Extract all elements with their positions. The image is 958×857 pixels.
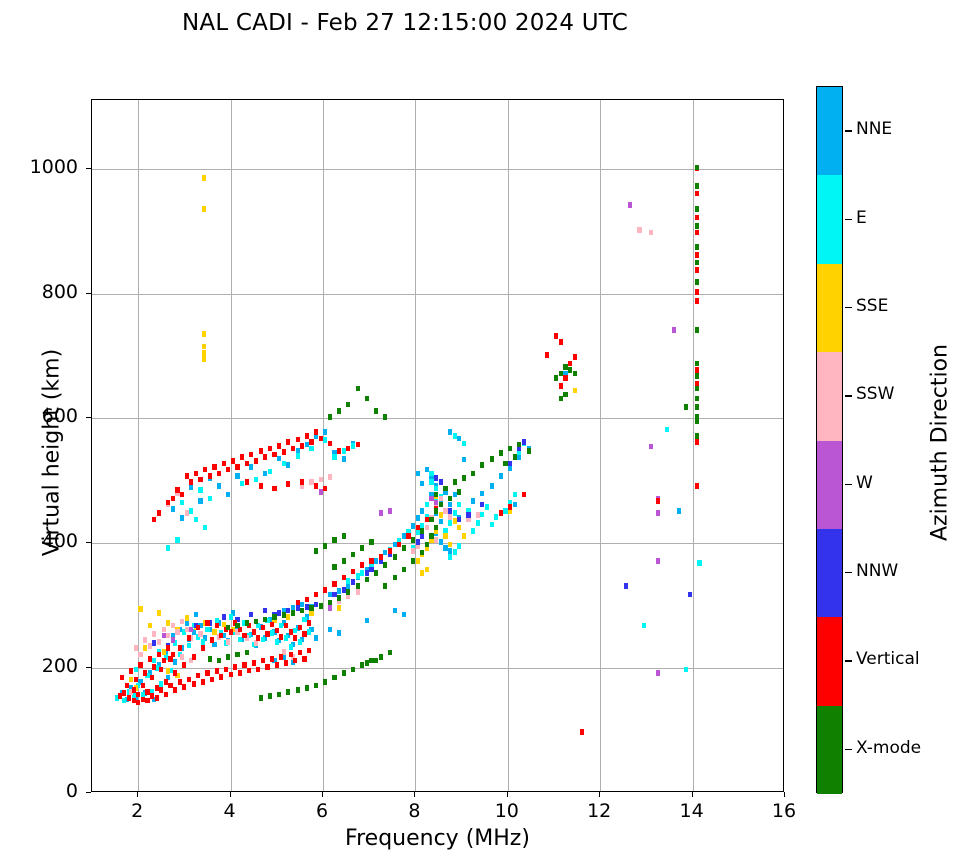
data-point-e [293,628,297,634]
data-point-vertical [545,352,549,358]
data-point-w [189,627,193,633]
colorbar-tick [845,307,852,308]
data-point-vertical [192,681,196,687]
data-point-e [453,510,457,516]
data-point-ssw [134,645,138,651]
data-point-e [296,453,300,459]
data-point-vertical [168,683,172,689]
data-point-nne [439,519,443,525]
data-point-w [328,605,332,611]
data-point-w [162,633,166,639]
data-point-vertical [286,439,290,445]
data-point-nnw [332,592,336,598]
data-point-sse [202,206,206,212]
data-point-x-mode [374,658,378,664]
data-point-vertical [563,375,567,381]
data-point-nne [416,515,420,521]
data-point-vertical [261,658,265,664]
data-point-w [628,202,632,208]
data-point-nne [462,457,466,463]
data-point-vertical [695,252,699,258]
data-point-vertical [314,592,318,598]
data-point-e [189,508,193,514]
data-point-vertical [332,581,336,587]
data-point-ssw [637,227,641,233]
x-tick [414,792,415,797]
data-point-vertical [208,473,212,479]
data-point-e [642,623,646,629]
data-point-nne [365,618,369,624]
data-point-vertical [219,633,223,639]
data-point-e [238,637,242,643]
data-point-sse [443,533,447,539]
data-point-x-mode [443,486,447,492]
data-point-ssw [319,477,323,483]
data-point-vertical [254,458,258,464]
data-point-x-mode [457,489,461,495]
data-point-sse [129,677,133,683]
data-point-nne [337,588,341,594]
data-point-x-mode [563,392,567,398]
data-point-sse [202,175,206,181]
data-point-vertical [388,548,392,554]
data-point-vertical [134,677,138,683]
colorbar-label-nne: NNE [856,119,892,139]
data-point-x-mode [695,223,699,229]
data-point-vertical [229,672,233,678]
data-point-nne [448,502,452,508]
data-point-nne [277,456,281,462]
x-axis-title: Frequency (MHz) [91,826,784,851]
data-point-ssw [448,514,452,520]
data-point-vertical [249,452,253,458]
data-point-nnw [466,512,470,518]
colorbar-segment-nnw[interactable] [817,529,842,617]
data-point-vertical [265,631,269,637]
data-point-x-mode [420,528,424,534]
data-point-x-mode [402,567,406,573]
data-point-ssw [254,640,258,646]
data-point-w [649,444,653,450]
data-point-sse [202,344,206,350]
data-point-nne [217,483,221,489]
data-point-ssw [434,537,438,543]
data-point-nne [226,492,230,498]
data-point-nne [189,484,193,490]
data-point-vertical [695,483,699,489]
y-tick [86,667,91,668]
data-point-vertical [145,689,149,695]
data-point-nne [393,542,397,548]
data-point-nnw [448,508,452,514]
data-point-sse [212,629,216,635]
data-point-vertical [150,693,154,699]
data-point-x-mode [332,537,336,543]
data-point-vertical [148,656,152,662]
data-point-vertical [129,668,133,674]
data-point-x-mode [695,327,699,333]
data-point-vertical [293,635,297,641]
data-point-vertical [337,448,341,454]
colorbar-segment-vertical[interactable] [817,617,842,705]
data-point-ssw [198,631,202,637]
data-point-vertical [150,675,154,681]
data-point-sse [420,570,424,576]
data-point-vertical [695,298,699,304]
data-point-e [490,522,494,528]
data-point-vertical [369,558,373,564]
data-point-vertical [323,486,327,492]
y-tick [86,792,91,793]
data-point-vertical [695,439,699,445]
data-point-nne [402,612,406,618]
data-point-vertical [157,510,161,516]
data-point-vertical [346,446,350,452]
colorbar-label-vertical: Vertical [856,649,920,669]
data-point-x-mode [314,683,318,689]
data-point-nnw [688,592,692,598]
data-point-e [198,487,202,493]
data-point-nnw [263,608,267,614]
data-point-vertical [656,498,660,504]
data-point-w [319,489,323,495]
data-point-w [379,510,383,516]
data-point-e [279,623,283,629]
data-point-vertical [235,464,239,470]
data-point-sse [457,525,461,531]
data-point-vertical [245,479,249,485]
data-point-sse [162,649,166,655]
data-point-vertical [196,625,200,631]
data-point-e [448,520,452,526]
data-point-vertical [125,683,129,689]
data-point-x-mode [360,545,364,551]
data-point-e [275,639,279,645]
data-point-nne [173,659,177,665]
data-point-vertical [272,452,276,458]
data-point-x-mode [323,679,327,685]
data-point-x-mode [208,656,212,662]
data-point-e [503,508,507,514]
data-point-vertical [159,687,163,693]
data-point-vertical [187,635,191,641]
data-point-vertical [328,441,332,447]
data-point-x-mode [337,595,341,601]
data-point-nne [513,502,517,508]
data-point-e [457,543,461,549]
data-point-e [284,635,288,641]
data-point-vertical [127,695,131,701]
data-point-nnw [365,570,369,576]
data-point-vertical [152,517,156,523]
x-tick-label: 6 [292,800,352,822]
data-point-sse [148,623,152,629]
data-point-vertical [314,483,318,489]
data-point-ssw [185,627,189,633]
data-point-vertical [342,575,346,581]
data-point-ssw [175,629,179,635]
data-point-x-mode [573,371,577,377]
data-point-vertical [275,662,279,668]
data-point-x-mode [226,654,230,660]
colorbar-title: Azimuth Direction [928,283,953,603]
y-tick-label: 0 [8,780,78,802]
colorbar-label-w: W [856,473,873,493]
data-point-x-mode [282,612,286,618]
data-point-sse [166,668,170,674]
data-point-x-mode [695,433,699,439]
x-tick-label: 4 [200,800,260,822]
x-tick [507,792,508,797]
data-point-sse [202,331,206,337]
data-point-e [480,512,484,518]
data-point-vertical [305,597,309,603]
data-point-e [471,528,475,534]
data-point-x-mode [695,279,699,285]
data-point-ssw [162,627,166,633]
data-point-vertical [289,629,293,635]
data-point-sse [573,388,577,394]
colorbar-segment-e[interactable] [817,175,842,263]
data-point-vertical [425,517,429,523]
data-point-vertical [122,690,126,696]
colorbar-segment-nne[interactable] [817,87,842,175]
data-point-vertical [185,473,189,479]
data-point-x-mode [342,558,346,564]
data-point-x-mode [360,662,364,668]
data-point-vertical [215,668,219,674]
data-point-vertical [695,191,699,197]
data-point-ssw [328,474,332,480]
data-point-x-mode [462,475,466,481]
data-point-e [453,549,457,555]
data-point-nnw [480,502,484,508]
data-point-ssw [439,496,443,502]
data-point-x-mode [527,448,531,454]
data-point-vertical [300,443,304,449]
data-point-w [656,558,660,564]
data-point-vertical [222,461,226,467]
data-point-vertical [162,658,166,664]
data-point-nne [420,508,424,514]
data-point-vertical [279,634,283,640]
data-point-vertical [261,625,265,631]
x-tick-label: 2 [107,800,167,822]
data-point-vertical [212,464,216,470]
data-point-nne [300,602,304,608]
data-point-vertical [298,625,302,631]
x-tick [784,792,785,797]
data-point-vertical [201,679,205,685]
x-tick-label: 10 [477,800,537,822]
data-point-e [513,492,517,498]
data-point-x-mode [235,652,239,658]
data-point-vertical [210,637,214,643]
data-point-x-mode [453,479,457,485]
data-point-sse [143,645,147,651]
x-tick [322,792,323,797]
data-point-vertical [145,698,149,704]
colorbar[interactable] [816,86,843,793]
data-point-ssw [476,512,480,518]
data-point-x-mode [695,396,699,402]
data-point-vertical [180,492,184,498]
data-point-x-mode [563,364,567,370]
data-point-w [656,510,660,516]
data-point-vertical [138,662,142,668]
data-point-nne [457,436,461,442]
data-point-x-mode [554,375,558,381]
data-point-x-mode [346,589,350,595]
data-point-vertical [309,439,313,445]
data-point-x-mode [328,414,332,420]
data-point-nnw [305,604,309,610]
colorbar-segment-ssw[interactable] [817,352,842,440]
data-point-x-mode [383,583,387,589]
colorbar-tick [845,484,852,485]
x-tick-label: 12 [569,800,629,822]
data-point-x-mode [268,693,272,699]
data-point-e [194,517,198,523]
data-point-w [672,327,676,333]
data-point-x-mode [513,454,517,460]
data-point-x-mode [490,456,494,462]
data-point-ssw [138,652,142,658]
data-point-vertical [296,600,300,606]
data-point-nne [180,515,184,521]
data-point-x-mode [342,533,346,539]
data-point-vertical [166,645,170,651]
x-tick [230,792,231,797]
x-tick-label: 8 [384,800,444,822]
data-point-x-mode [323,543,327,549]
data-point-vertical [256,667,260,673]
data-point-ssw [443,508,447,514]
data-point-e [494,514,498,520]
data-point-x-mode [254,619,258,625]
data-point-e [665,427,669,433]
data-point-vertical [166,500,170,506]
data-point-sse [439,512,443,518]
data-point-e [229,614,233,620]
data-point-vertical [268,446,272,452]
data-point-x-mode [695,361,699,367]
data-point-vertical [217,471,221,477]
data-point-e [268,469,272,475]
data-point-vertical [210,677,214,683]
colorbar-label-nnw: NNW [856,561,898,581]
data-point-nnw [342,587,346,593]
data-point-w [171,637,175,643]
data-point-e [309,446,313,452]
data-point-vertical [182,662,186,668]
data-point-x-mode [314,548,318,554]
data-point-e [254,477,258,483]
data-point-vertical [205,670,209,676]
data-point-vertical [259,448,263,454]
data-point-x-mode [434,492,438,498]
colorbar-segment-w[interactable] [817,441,842,529]
data-point-e [302,617,306,623]
x-tick-label: 14 [662,800,722,822]
data-point-e [203,525,207,531]
data-point-x-mode [434,508,438,514]
data-point-x-mode [365,396,369,402]
data-point-x-mode [695,419,699,425]
data-point-vertical [275,628,279,634]
data-point-vertical [300,479,304,485]
colorbar-label-x-mode: X-mode [856,738,921,758]
data-point-vertical [305,433,309,439]
data-point-w [656,670,660,676]
data-point-x-mode [351,552,355,558]
data-point-vertical [173,670,177,676]
data-point-vertical [155,695,159,701]
data-point-vertical [522,492,526,498]
data-point-vertical [270,622,274,628]
data-point-e [346,578,350,584]
data-point-x-mode [309,605,313,611]
data-point-vertical [159,667,163,673]
data-point-x-mode [695,183,699,189]
data-point-nnw [296,605,300,611]
data-point-x-mode [272,614,276,620]
data-point-vertical [155,685,159,691]
data-point-nnw [624,583,628,589]
data-point-vertical [307,620,311,626]
data-point-e [180,500,184,506]
data-point-vertical [568,361,572,367]
data-point-vertical [203,467,207,473]
data-point-vertical [189,479,193,485]
data-point-x-mode [374,570,378,576]
data-point-vertical [143,670,147,676]
data-point-vertical [171,652,175,658]
colorbar-segment-sse[interactable] [817,264,842,352]
data-point-e [462,441,466,447]
data-point-nnw [508,461,512,467]
data-point-vertical [277,443,281,449]
data-point-x-mode [434,525,438,531]
data-point-ssw [148,643,152,649]
data-point-e [175,537,179,543]
colorbar-tick [845,749,852,750]
data-point-vertical [157,652,161,658]
data-point-nnw [277,610,281,616]
data-point-sse [166,620,170,626]
data-point-nne [328,627,332,633]
colorbar-segment-x-mode[interactable] [817,706,842,794]
data-point-sse [416,558,420,564]
data-point-e [240,481,244,487]
data-point-e [201,639,205,645]
data-point-e [166,545,170,551]
data-point-vertical [314,429,318,435]
data-point-nnw [222,614,226,620]
data-point-nne [346,583,350,589]
data-point-nne [198,498,202,504]
data-point-nne [411,523,415,529]
data-point-x-mode [351,667,355,673]
x-tick-label: 16 [754,800,814,822]
data-point-nne [328,592,332,598]
data-point-x-mode [300,608,304,614]
data-point-vertical [118,693,122,699]
data-point-x-mode [369,658,373,664]
data-point-e [270,630,274,636]
data-point-nnw [434,475,438,481]
data-point-vertical [319,436,323,442]
